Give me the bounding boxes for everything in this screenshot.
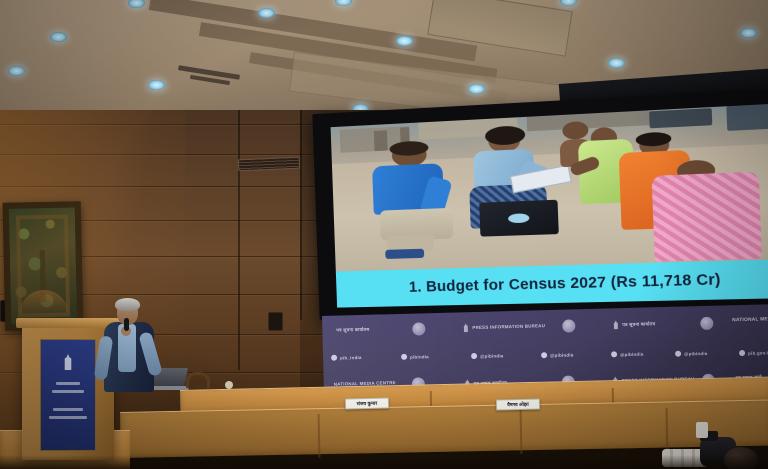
press-conference-scene: 1. Budget for Census 2027 (Rs 11,718 Cr)… <box>0 0 768 469</box>
youtube-icon <box>611 351 617 357</box>
slide-surface: 1. Budget for Census 2027 (Rs 11,718 Cr) <box>331 103 768 308</box>
ceiling-downlight <box>148 80 165 90</box>
ceiling-downlight <box>560 0 577 6</box>
ceiling-downlight <box>258 8 275 18</box>
backdrop-label: पत्र सूचना कार्यालय <box>336 327 369 334</box>
backdrop-handle: @pibindia <box>550 352 573 358</box>
twitter-icon <box>331 355 337 361</box>
globe-icon <box>739 350 745 356</box>
photo-person-enumerator <box>366 141 468 262</box>
framed-artwork <box>3 201 84 331</box>
emblem-icon <box>612 320 619 329</box>
backdrop-handle: @pibindia <box>480 353 503 359</box>
national-emblem-icon <box>63 354 74 370</box>
ceiling-downlight <box>8 66 25 76</box>
facebook-icon <box>471 353 477 359</box>
backdrop-handle: pib_india <box>340 354 362 360</box>
led-presentation-screen: 1. Budget for Census 2027 (Rs 11,718 Cr) <box>312 87 768 320</box>
ceiling-downlight <box>608 58 625 68</box>
ceiling-downlight <box>50 32 67 42</box>
photo-census-bag <box>479 199 558 236</box>
nameplate-text: वैष्णव ओझा <box>507 401 529 408</box>
emblem-icon <box>700 317 713 330</box>
emblem-icon <box>462 323 469 332</box>
ceiling-downlight <box>335 0 352 6</box>
nameplate: वैष्णव ओझा <box>496 398 540 410</box>
twitter-icon <box>401 354 407 360</box>
emblem-icon <box>412 322 425 335</box>
speaker-person <box>98 300 162 410</box>
backdrop-label: पत्र सूचना कार्यालय <box>622 321 655 328</box>
backdrop-handle: @pibindia <box>620 351 643 357</box>
backdrop-label: NATIONAL MEDIA CENTRE <box>732 317 768 324</box>
chair-back <box>186 372 210 388</box>
backdrop-label: PRESS INFORMATION BUREAU <box>472 323 545 330</box>
koo-icon <box>675 351 681 357</box>
wall-speaker <box>268 312 283 331</box>
ceiling-downlight <box>128 0 145 8</box>
nameplate: संजय कुमार <box>345 397 389 409</box>
emblem-icon <box>562 319 575 332</box>
photo-person-respondent-3 <box>651 157 762 259</box>
backdrop-handle: pib.gov.in <box>748 350 768 356</box>
ceiling-downlight <box>396 36 413 46</box>
ceiling-downlight <box>740 28 757 38</box>
podium-panel <box>40 339 96 451</box>
backdrop-handle: @pibindia <box>684 350 707 356</box>
slide-caption-text: 1. Budget for Census 2027 (Rs 11,718 Cr) <box>409 272 721 296</box>
nameplate-text: संजय कुमार <box>357 400 378 407</box>
backdrop-handle: pibindia <box>410 354 429 359</box>
ceiling-downlight <box>468 84 485 94</box>
slide-photograph <box>331 103 768 272</box>
handheld-microphone <box>124 318 129 331</box>
water-glass <box>225 381 233 389</box>
instagram-icon <box>541 352 547 358</box>
camera-flash <box>696 422 708 438</box>
